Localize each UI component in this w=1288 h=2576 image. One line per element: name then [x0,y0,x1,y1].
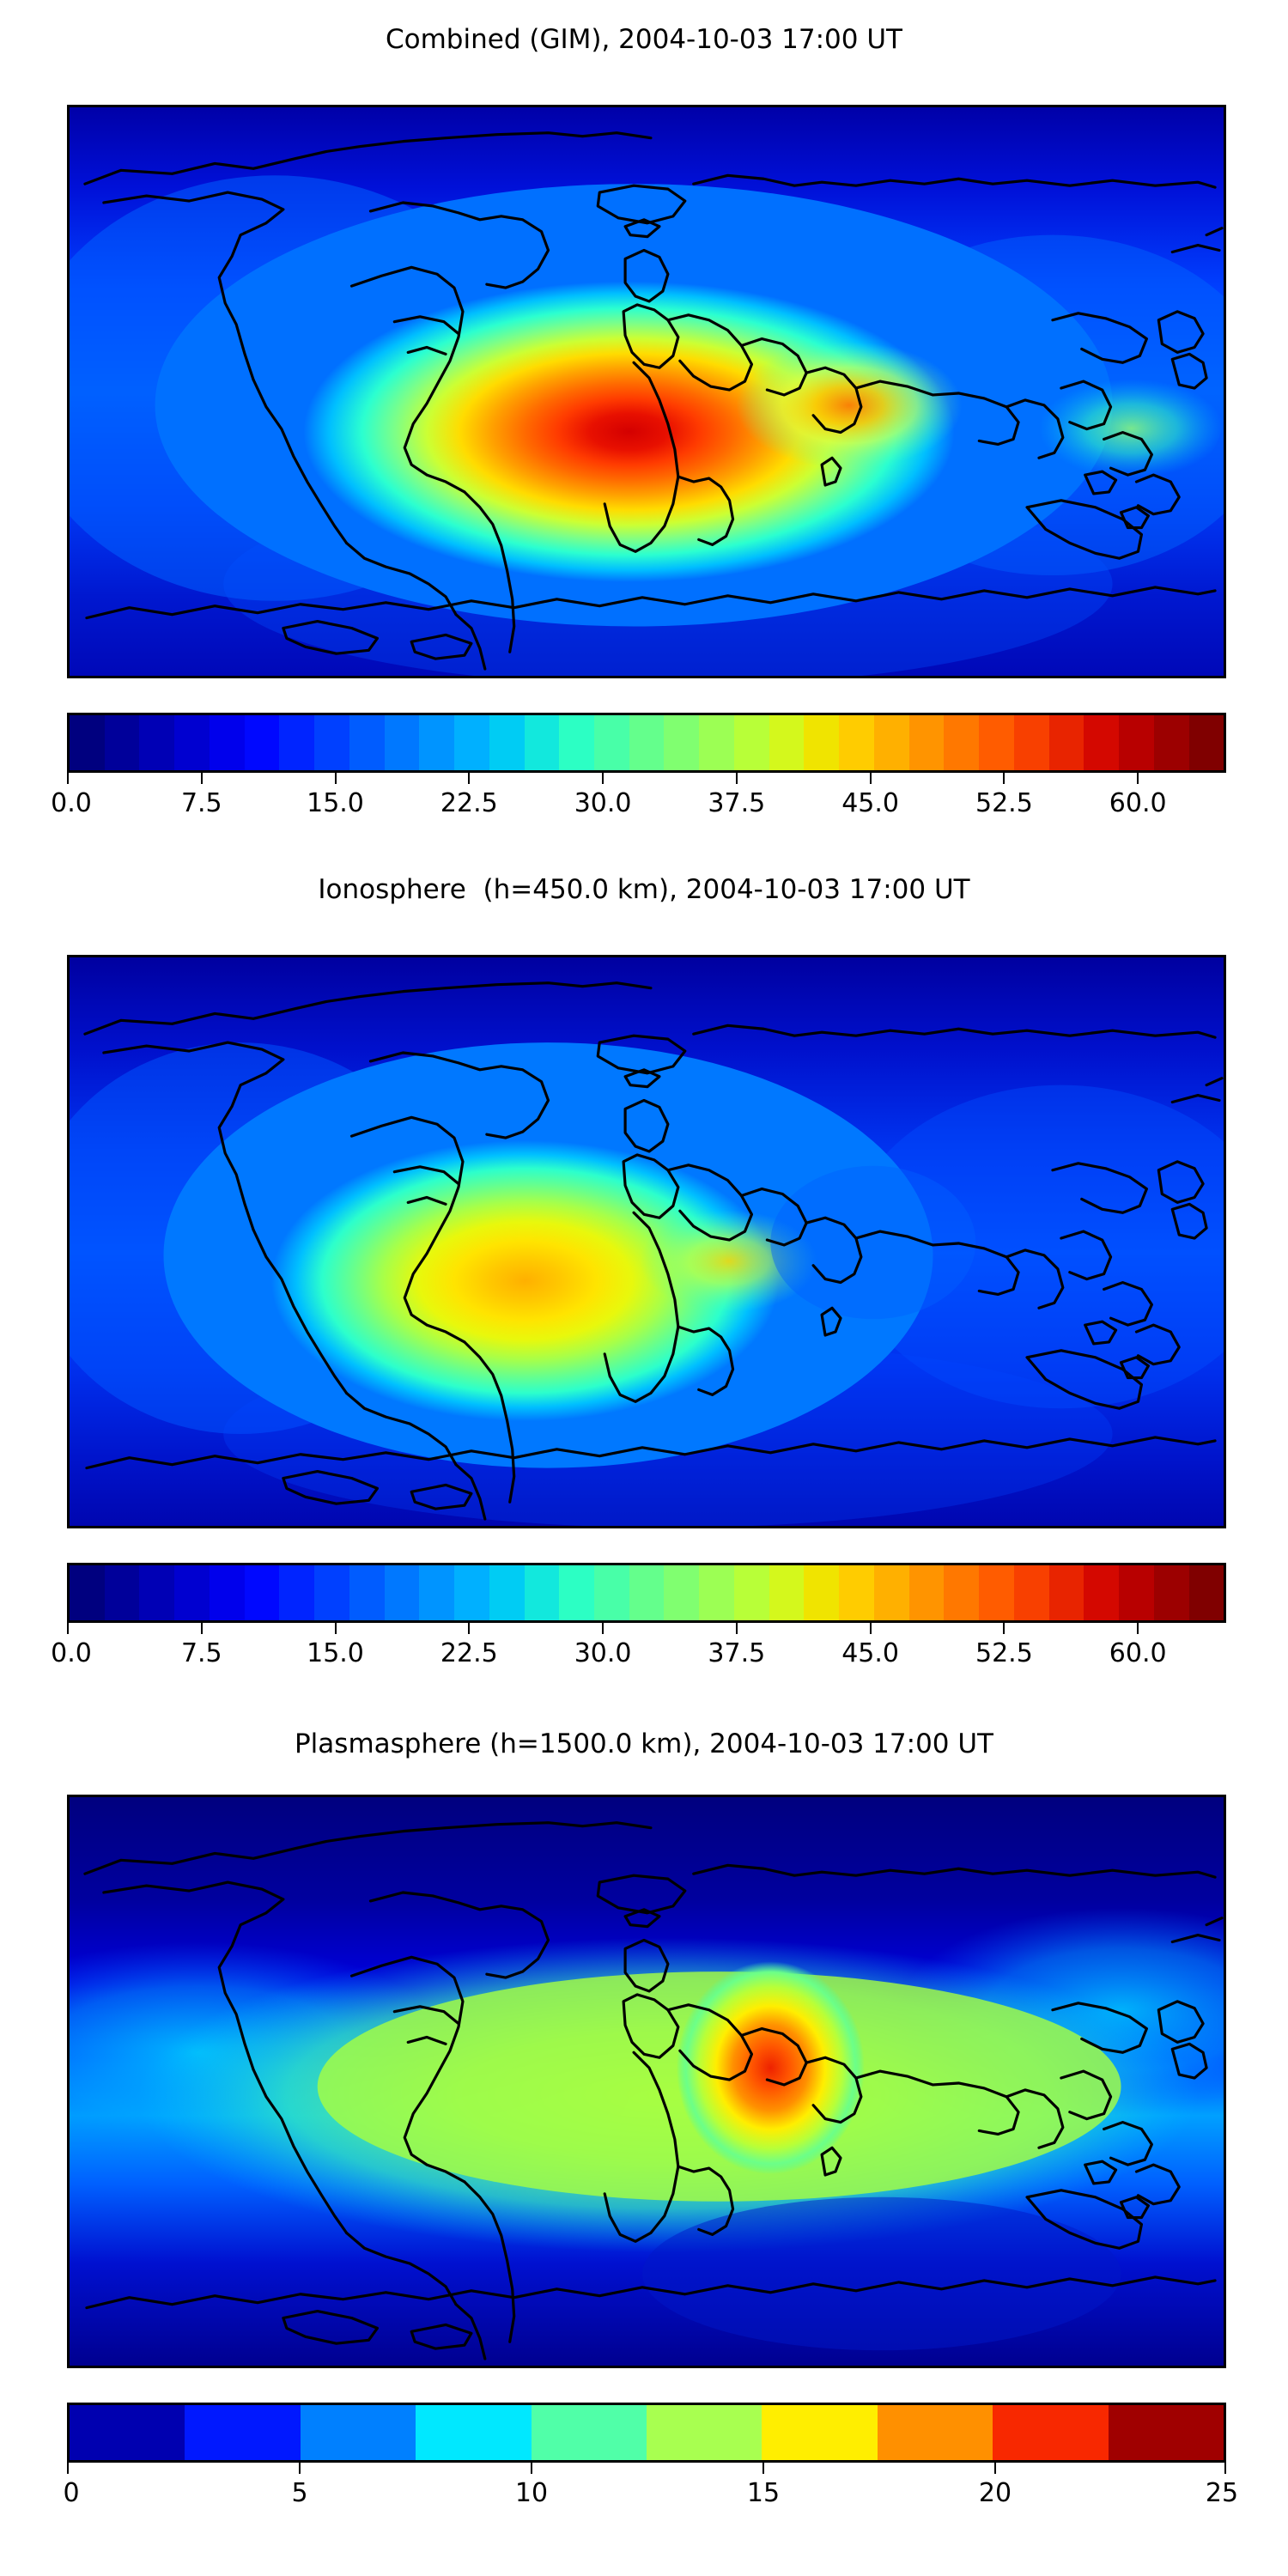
colorbar-tick [531,2463,532,2474]
colorbar-band [909,715,945,770]
colorbar-band [1189,715,1224,770]
colorbar-tick-label: 7.5 [181,788,222,818]
colorbar-band [769,715,805,770]
colorbar-tick [736,773,738,784]
colorbar-band [301,2405,416,2460]
colorbar-tick-label: 10 [515,2478,548,2508]
colorbar-combined[interactable]: 0.0 7.5 15.0 22.5 30.0 37.5 45.0 52.5 60… [67,713,1226,773]
colorbar-band [385,1565,420,1620]
colorbar-band [664,715,699,770]
map-field-ionosphere [70,957,1224,1526]
colorbar-tick [602,1623,604,1634]
map-axes-plasmasphere[interactable] [67,1795,1226,2368]
colorbar-band [594,715,629,770]
colorbar-band [174,1565,210,1620]
colorbar-band [839,715,874,770]
colorbar-band [1119,1565,1154,1620]
colorbar-band [559,1565,594,1620]
colorbar-band [185,2405,300,2460]
colorbar-tick-label: 5 [291,2478,307,2508]
colorbar-tick-label: 15.0 [307,1638,364,1668]
colorbar-gradient-combined [67,713,1226,773]
colorbar-band [1154,715,1189,770]
colorbar-band [993,2405,1108,2460]
colorbar-band [734,715,769,770]
colorbar-band [416,2405,531,2460]
panel-title-plasmasphere: Plasmasphere (h=1500.0 km), 2004-10-03 1… [0,1728,1288,1759]
colorbar-plasmasphere[interactable]: 0 5 10 15 20 25 [67,2403,1226,2463]
panel-title-combined: Combined (GIM), 2004-10-03 17:00 UT [0,24,1288,55]
colorbar-band [245,715,280,770]
colorbar-tick [468,773,470,784]
colorbar-band [647,2405,762,2460]
colorbar-band [139,715,174,770]
colorbar-tick [1137,773,1139,784]
panel-title-ionosphere: Ionosphere (h=450.0 km), 2004-10-03 17:0… [0,874,1288,905]
colorbar-tick-label: 7.5 [181,1638,222,1668]
contour-field-ionosphere [70,957,1224,1526]
colorbar-band [314,1565,349,1620]
colorbar-tick-label: 22.5 [440,1638,498,1668]
colorbar-band [174,715,210,770]
colorbar-band [245,1565,280,1620]
colorbar-band [279,1565,314,1620]
colorbar-tick [870,1623,872,1634]
colorbar-band [664,1565,699,1620]
colorbar-band [1084,715,1119,770]
colorbar-tick [1137,1623,1139,1634]
colorbar-band [105,1565,140,1620]
colorbar-band [454,715,489,770]
colorbar-band [1049,1565,1084,1620]
colorbar-band [1084,1565,1119,1620]
colorbar-band [70,2405,185,2460]
colorbar-band [629,715,665,770]
colorbar-band [909,1565,945,1620]
colorbar-band [878,2405,993,2460]
colorbar-tick-label: 15 [747,2478,780,2508]
map-axes-combined[interactable] [67,105,1226,678]
colorbar-tick-label: 30.0 [574,788,632,818]
colorbar-tick [762,2463,764,2474]
colorbar-band [139,1565,174,1620]
colorbar-band [1154,1565,1189,1620]
colorbar-band [874,715,909,770]
colorbar-tick-label: 15.0 [307,788,364,818]
colorbar-band [769,1565,805,1620]
colorbar-band [979,715,1014,770]
colorbar-tick [602,773,604,784]
colorbar-band [419,1565,454,1620]
colorbar-band [804,1565,839,1620]
colorbar-band [419,715,454,770]
colorbar-band [1109,2405,1224,2460]
colorbar-band [105,715,140,770]
colorbar-band [532,2405,647,2460]
colorbar-tick-label: 25 [1206,2478,1238,2508]
colorbar-tick-label: 37.5 [708,788,765,818]
colorbar-tick-label: 45.0 [841,1638,899,1668]
colorbar-gradient-plasmasphere [67,2403,1226,2463]
colorbar-tick [468,1623,470,1634]
colorbar-band [762,2405,877,2460]
colorbar-band [804,715,839,770]
colorbar-tick-label: 37.5 [708,1638,765,1668]
colorbar-band [1189,1565,1224,1620]
colorbar-tick [201,773,203,784]
colorbar-band [734,1565,769,1620]
colorbar-band [70,715,105,770]
colorbar-band [454,1565,489,1620]
colorbar-band [525,1565,560,1620]
colorbar-ionosphere[interactable]: 0.0 7.5 15.0 22.5 30.0 37.5 45.0 52.5 60… [67,1563,1226,1623]
colorbar-tick [1003,773,1005,784]
colorbar-band [210,715,245,770]
colorbar-tick [1003,1623,1005,1634]
colorbar-band [839,1565,874,1620]
colorbar-band [874,1565,909,1620]
colorbar-tick [201,1623,203,1634]
colorbar-band [279,715,314,770]
colorbar-band [525,715,560,770]
colorbar-band [944,1565,979,1620]
colorbar-band [349,1565,385,1620]
colorbar-gradient-ionosphere [67,1563,1226,1623]
contour-field-combined [70,107,1224,676]
colorbar-band [1014,1565,1049,1620]
colorbar-band [559,715,594,770]
contour-field-plasmasphere [70,1797,1224,2366]
map-axes-ionosphere[interactable] [67,955,1226,1528]
colorbar-band [979,1565,1014,1620]
colorbar-tick-label: 0.0 [51,788,92,818]
colorbar-band [349,715,385,770]
colorbar-band [70,1565,105,1620]
colorbar-band [944,715,979,770]
colorbar-band [314,715,349,770]
colorbar-tick [1224,2463,1226,2474]
colorbar-tick-label: 0.0 [51,1638,92,1668]
colorbar-tick-label: 60.0 [1109,1638,1167,1668]
colorbar-band [1119,715,1154,770]
colorbar-band [629,1565,665,1620]
map-field-plasmasphere [70,1797,1224,2366]
colorbar-tick-label: 20 [979,2478,1012,2508]
colorbar-band [699,715,734,770]
colorbar-band [594,1565,629,1620]
colorbar-tick-label: 52.5 [975,1638,1033,1668]
colorbar-tick [67,773,69,784]
colorbar-tick [870,773,872,784]
colorbar-tick-label: 0 [63,2478,79,2508]
colorbar-band [489,1565,525,1620]
colorbar-tick [67,2463,69,2474]
colorbar-tick-label: 45.0 [841,788,899,818]
tec-figure: Combined (GIM), 2004-10-03 17:00 UT [0,0,1288,2576]
colorbar-tick [299,2463,301,2474]
colorbar-tick [335,773,337,784]
colorbar-tick [994,2463,996,2474]
colorbar-tick-label: 22.5 [440,788,498,818]
colorbar-band [1014,715,1049,770]
map-field-combined [70,107,1224,676]
colorbar-tick-label: 52.5 [975,788,1033,818]
colorbar-band [1049,715,1084,770]
colorbar-band [699,1565,734,1620]
colorbar-tick [335,1623,337,1634]
colorbar-band [385,715,420,770]
colorbar-tick [67,1623,69,1634]
colorbar-band [210,1565,245,1620]
colorbar-tick-label: 60.0 [1109,788,1167,818]
colorbar-tick-label: 30.0 [574,1638,632,1668]
colorbar-band [489,715,525,770]
colorbar-tick [736,1623,738,1634]
